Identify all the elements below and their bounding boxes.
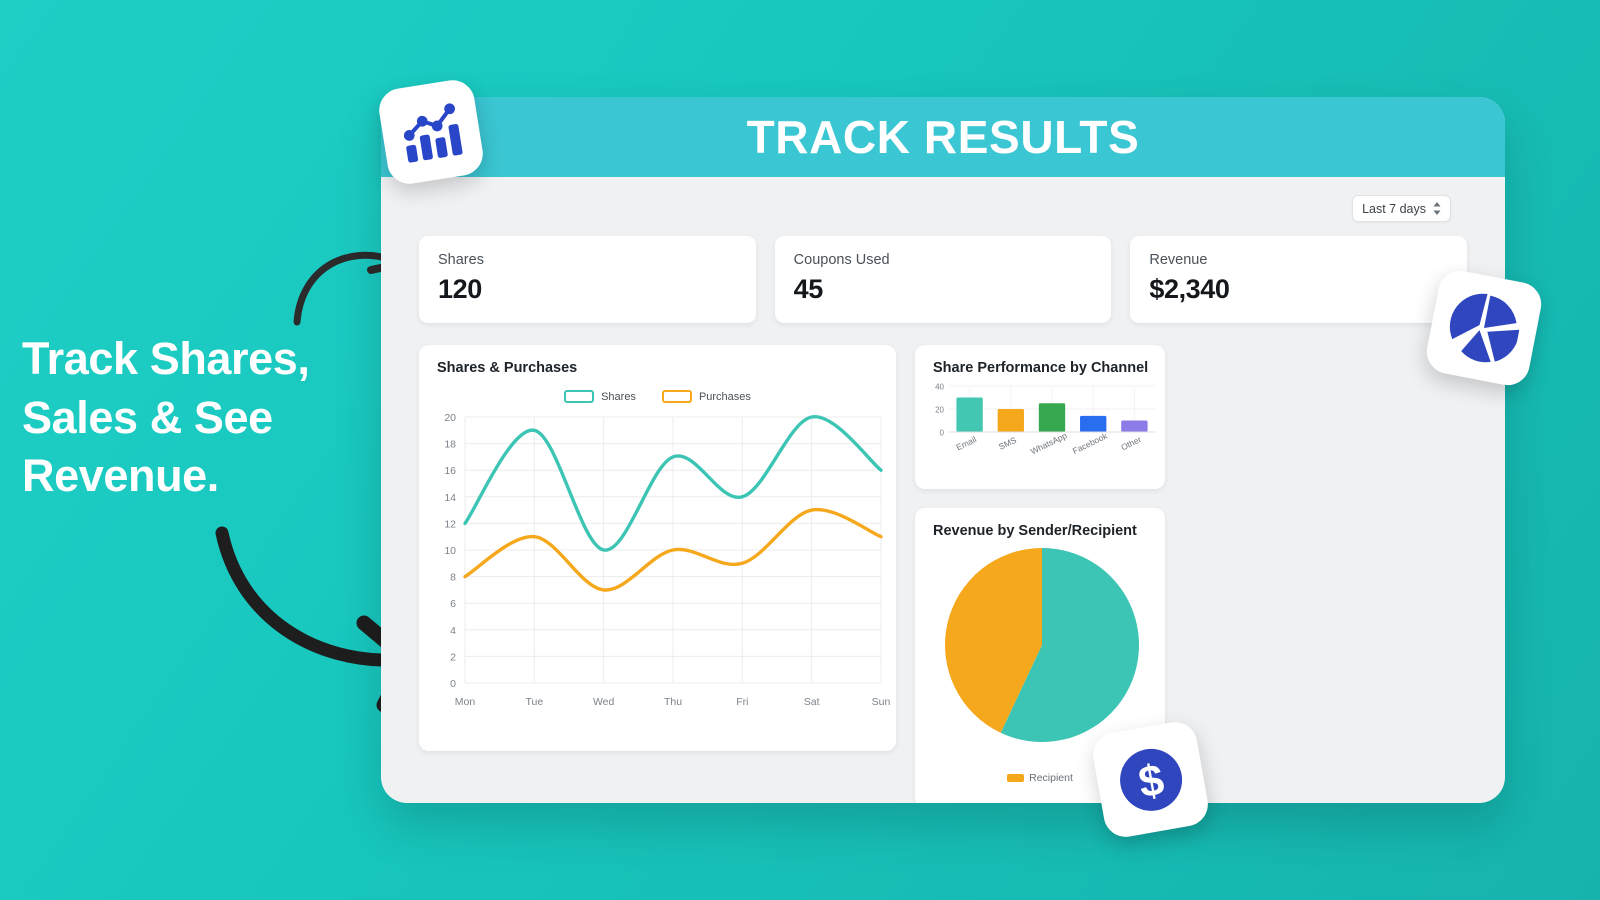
svg-text:Fri: Fri [736,696,748,708]
panel-title: Share Performance by Channel [915,345,1165,376]
svg-text:Sat: Sat [804,696,820,708]
svg-text:14: 14 [444,492,456,504]
date-range-value: Last 7 days [1362,202,1426,216]
pie-chart [915,539,1165,761]
legend-label: Purchases [699,391,751,403]
line-chart-legend: Shares Purchases [419,390,896,403]
svg-text:Facebook: Facebook [1071,430,1110,456]
bar-chart: 02040EmailSMSWhatsAppFacebookOther [915,376,1165,484]
svg-text:Wed: Wed [593,696,615,708]
svg-text:20: 20 [935,406,944,415]
legend-item-shares[interactable]: Shares [564,390,636,403]
svg-text:0: 0 [940,429,945,438]
legend-swatch [662,390,692,403]
legend-swatch [564,390,594,403]
promo-headline-line-3: Revenue. [22,447,392,506]
panel-share-performance: Share Performance by Channel 02040EmailS… [915,345,1165,489]
promo-headline-line-1: Track Shares, [22,330,392,389]
kpi-value: 120 [438,274,737,305]
kpi-label: Revenue [1149,252,1448,268]
kpi-value: 45 [794,274,1093,305]
legend-label: Shares [601,391,636,403]
svg-text:20: 20 [444,412,456,424]
pie-chart-icon [1443,287,1525,369]
promo-headline-line-2: Sales & See [22,389,392,448]
svg-text:2: 2 [450,651,456,663]
svg-text:Tue: Tue [525,696,543,708]
bar-chart-line-icon [396,97,467,168]
panel-title: Shares & Purchases [419,345,896,376]
svg-text:Mon: Mon [455,696,476,708]
svg-text:40: 40 [935,383,944,392]
panel-shares-purchases: Shares & Purchases Shares Purchases 0246… [419,345,896,751]
pie-chart-icon-badge [1423,267,1545,389]
svg-text:18: 18 [444,439,456,451]
kpi-card-revenue: Revenue $2,340 [1130,236,1467,323]
kpi-row: Shares 120 Coupons Used 45 Revenue $2,34… [405,236,1481,323]
legend-label: Recipient [1029,772,1073,784]
svg-text:Thu: Thu [664,696,682,708]
svg-text:0: 0 [450,678,456,690]
bar-chart-line-icon-badge [376,77,486,187]
svg-text:6: 6 [450,598,456,610]
svg-text:10: 10 [444,545,456,557]
svg-text:4: 4 [450,625,456,637]
panel-title: Revenue by Sender/Recipient [915,508,1165,539]
date-range-select[interactable]: Last 7 days [1352,195,1451,222]
dashboard-header: TRACK RESULTS [381,97,1505,177]
kpi-value: $2,340 [1149,274,1448,305]
legend-item-purchases[interactable]: Purchases [662,390,751,403]
svg-text:WhatsApp: WhatsApp [1029,430,1069,456]
legend-swatch [1007,774,1024,782]
kpi-card-coupons-used: Coupons Used 45 [775,236,1112,323]
dollar-coin-icon-badge: $ [1090,719,1212,841]
page-title: TRACK RESULTS [747,110,1140,164]
kpi-card-shares: Shares 120 [419,236,756,323]
dashboard-window: TRACK RESULTS Last 7 days Shares 120 C [381,97,1505,803]
line-chart: 02468101214161820MonTueWedThuFriSatSun [419,403,896,735]
kpi-label: Shares [438,252,737,268]
svg-text:Email: Email [955,434,979,452]
panels-row: Shares & Purchases Shares Purchases 0246… [405,345,1481,803]
legend-item-recipient[interactable]: Recipient [1007,772,1073,784]
svg-text:SMS: SMS [997,435,1018,452]
stepper-arrows-icon[interactable] [1433,202,1441,215]
svg-text:8: 8 [450,572,456,584]
range-row: Last 7 days [405,195,1481,222]
svg-text:Other: Other [1119,434,1143,452]
promo-headline: Track Shares, Sales & See Revenue. [22,330,392,506]
kpi-label: Coupons Used [794,252,1093,268]
svg-text:Sun: Sun [872,696,891,708]
dollar-coin-icon: $ [1111,740,1190,819]
dashboard-body: Last 7 days Shares 120 Coupons Used 45 [381,177,1505,803]
svg-text:12: 12 [444,518,456,530]
svg-text:16: 16 [444,465,456,477]
